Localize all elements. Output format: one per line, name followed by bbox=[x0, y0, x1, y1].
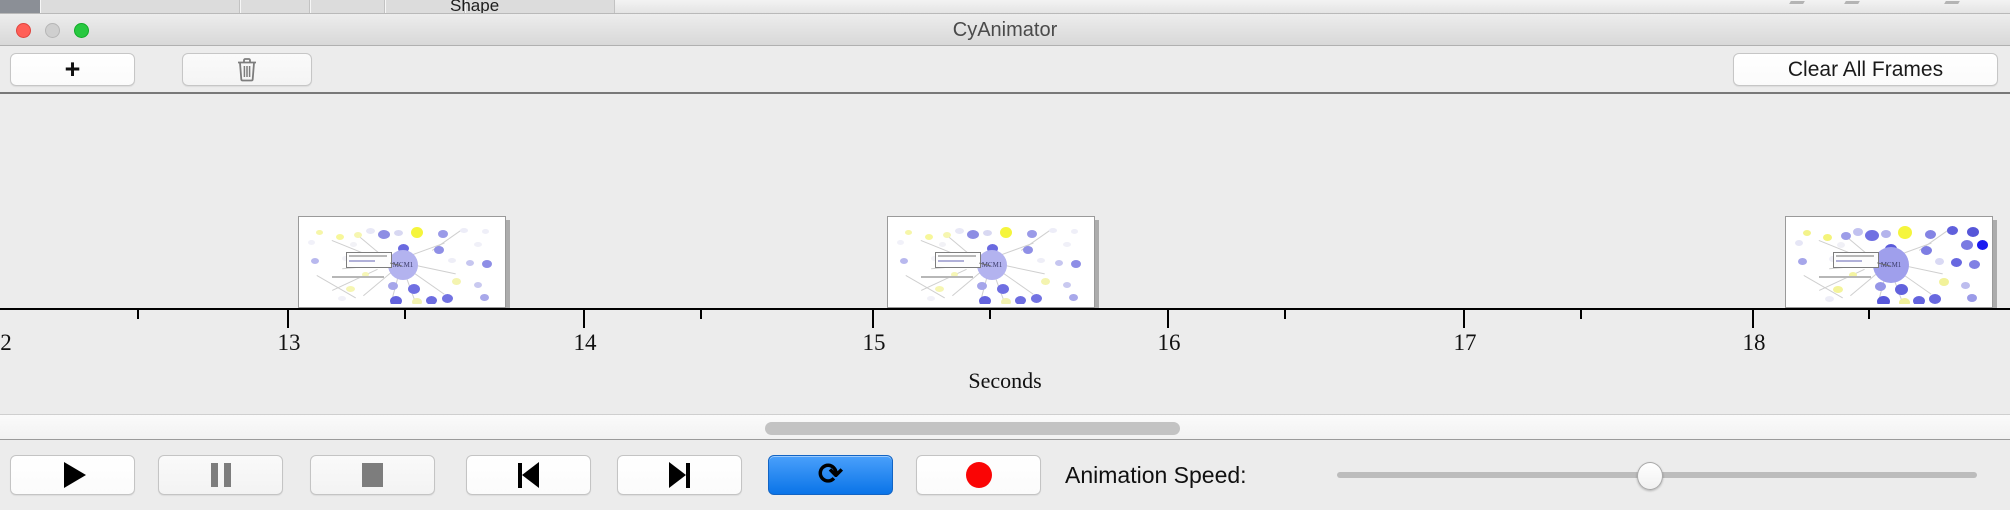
network-thumbnail-image: MCM1 bbox=[1789, 220, 1989, 304]
axis-tick-major bbox=[1167, 310, 1169, 328]
bg-window-chunk bbox=[310, 0, 385, 14]
animation-speed-label: Animation Speed: bbox=[1065, 455, 1247, 495]
axis-tick-minor bbox=[1580, 310, 1582, 319]
play-icon bbox=[64, 462, 86, 488]
timeline-axis: 2 13 14 15 16 17 18 Seconds bbox=[0, 308, 2010, 414]
hub-node-label: MCM1 bbox=[977, 250, 1007, 280]
axis-tick-minor bbox=[1868, 310, 1870, 319]
play-button[interactable] bbox=[10, 455, 135, 495]
pause-button[interactable] bbox=[158, 455, 283, 495]
skip-forward-icon bbox=[669, 462, 690, 488]
network-thumbnail-image: MCM1 bbox=[891, 220, 1091, 304]
timeline-frame-thumbnail[interactable]: MCM1 bbox=[887, 216, 1095, 308]
stop-button[interactable] bbox=[310, 455, 435, 495]
record-icon bbox=[966, 462, 992, 488]
loop-button[interactable]: ⟳ bbox=[768, 455, 893, 495]
axis-tick-major bbox=[583, 310, 585, 328]
axis-tick-label: 2 bbox=[0, 330, 12, 356]
axis-tick-minor bbox=[989, 310, 991, 319]
axis-tick-minor bbox=[404, 310, 406, 319]
slider-knob[interactable] bbox=[1637, 462, 1663, 490]
axis-tick-minor bbox=[1284, 310, 1286, 319]
bg-window-tick bbox=[1844, 1, 1860, 4]
plus-icon: + bbox=[65, 56, 81, 83]
title-bar: CyAnimator bbox=[0, 14, 2010, 46]
axis-tick-minor bbox=[137, 310, 139, 319]
timeline-frame-thumbnail[interactable]: MCM1 bbox=[298, 216, 506, 308]
timeline-frames-area[interactable]: MCM1 bbox=[0, 94, 2010, 308]
last-frame-button[interactable] bbox=[617, 455, 742, 495]
axis-tick-label: 15 bbox=[863, 330, 886, 356]
animation-speed-slider[interactable] bbox=[1337, 455, 1977, 495]
first-frame-button[interactable] bbox=[466, 455, 591, 495]
loop-icon: ⟳ bbox=[818, 460, 843, 490]
network-thumbnail-image: MCM1 bbox=[302, 220, 502, 304]
stop-icon bbox=[362, 463, 383, 487]
axis-tick-label: 14 bbox=[574, 330, 597, 356]
axis-title: Seconds bbox=[0, 368, 2010, 394]
clear-all-frames-label: Clear All Frames bbox=[1788, 58, 1943, 82]
axis-tick-major bbox=[287, 310, 289, 328]
axis-tick-label: 13 bbox=[278, 330, 301, 356]
axis-line bbox=[0, 308, 2010, 310]
record-button[interactable] bbox=[916, 455, 1041, 495]
axis-tick-major bbox=[1752, 310, 1754, 328]
bg-window-tick bbox=[1789, 1, 1805, 4]
background-windows-strip: Shape bbox=[0, 0, 2010, 14]
skip-back-icon bbox=[518, 462, 539, 488]
axis-tick-label: 18 bbox=[1743, 330, 1766, 356]
frames-toolbar: + Clear All Frames bbox=[0, 46, 2010, 93]
axis-tick-major bbox=[1463, 310, 1465, 328]
axis-tick-label: 17 bbox=[1454, 330, 1477, 356]
timeline-scrollbar-thumb[interactable] bbox=[765, 422, 1180, 435]
bg-window-label: Shape bbox=[450, 0, 499, 14]
axis-tick-label: 16 bbox=[1158, 330, 1181, 356]
cyanimator-window: Shape CyAnimator + Clear All Frames bbox=[0, 0, 2010, 510]
hub-node-label: MCM1 bbox=[388, 250, 418, 280]
bg-window-chunk bbox=[240, 0, 310, 14]
axis-tick-major bbox=[872, 310, 874, 328]
bg-window-tick bbox=[1944, 1, 1960, 4]
clear-all-frames-button[interactable]: Clear All Frames bbox=[1733, 53, 1998, 86]
timeline-frame-thumbnail[interactable]: MCM1 bbox=[1785, 216, 1993, 308]
player-controls-bar: ⟳ Animation Speed: bbox=[0, 441, 2010, 510]
pause-icon bbox=[211, 463, 231, 487]
axis-tick-minor bbox=[700, 310, 702, 319]
bg-window-chunk bbox=[0, 0, 40, 13]
trash-icon bbox=[236, 57, 258, 82]
add-frame-button[interactable]: + bbox=[10, 53, 135, 86]
delete-frame-button[interactable] bbox=[182, 53, 312, 86]
timeline-scrollbar[interactable] bbox=[0, 414, 2010, 440]
bg-window-chunk bbox=[40, 0, 240, 14]
window-title: CyAnimator bbox=[0, 14, 2010, 46]
